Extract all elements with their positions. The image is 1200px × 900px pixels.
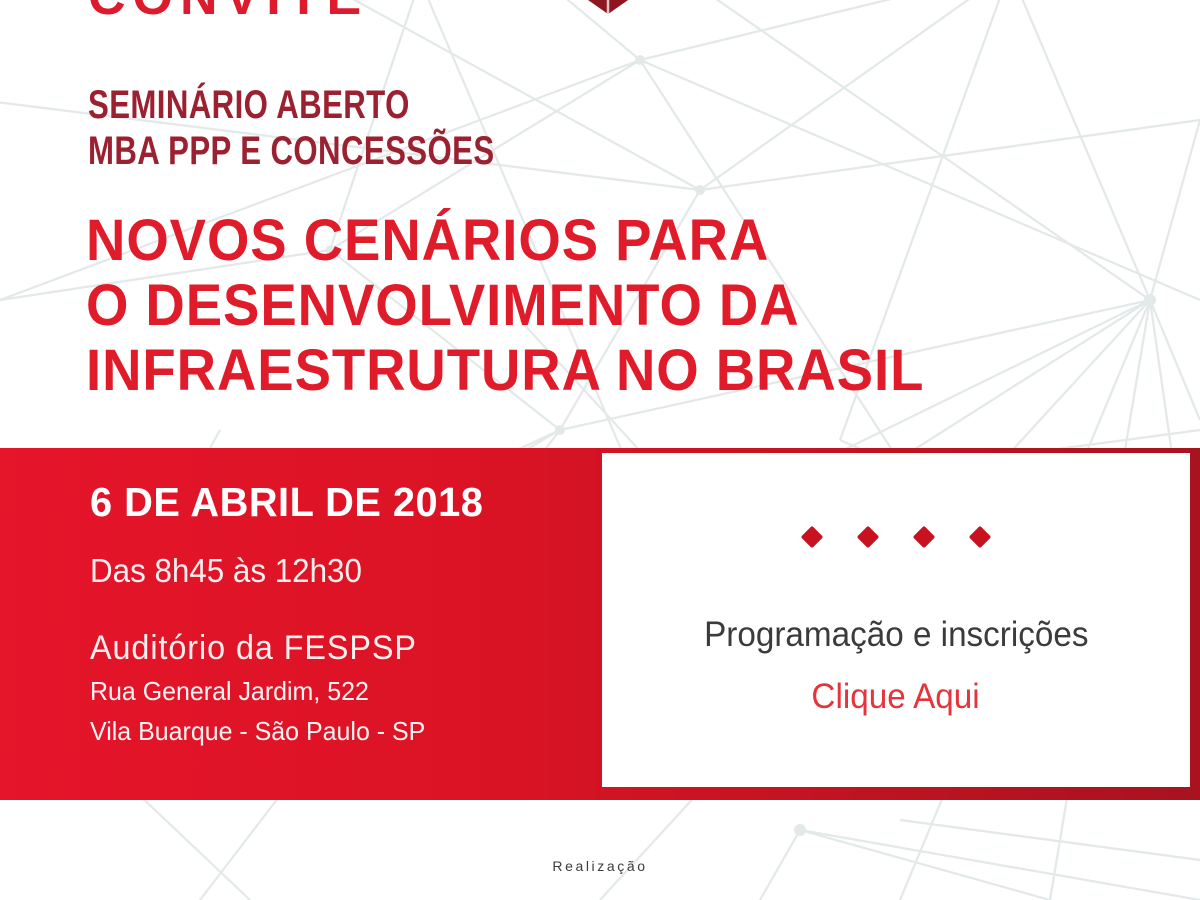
registration-card[interactable]: Programação e inscrições Clique Aqui — [604, 455, 1188, 785]
event-date: 6 DE ABRIL DE 2018 — [90, 478, 556, 526]
registration-link[interactable]: Clique Aqui — [812, 675, 980, 719]
page-title: NOVOS CENÁRIOS PARA O DESENVOLVIMENTO DA… — [86, 208, 1146, 403]
headline-line-3: INFRAESTRUTURA NO BRASIL — [86, 338, 1082, 403]
diamond-bullet-icon-1 — [801, 526, 824, 549]
poster-subtitle-line-1: SEMINÁRIO ABERTO — [88, 82, 634, 128]
poster-kicker-block: CONVITE — [88, 0, 1088, 28]
event-address-line-1: Rua General Jardim, 522 — [90, 674, 551, 708]
poster-subtitle-line-2: MBA PPP E CONCESSÕES — [88, 128, 634, 174]
diamond-bullet-row — [604, 529, 1188, 545]
headline-line-1: NOVOS CENÁRIOS PARA — [86, 208, 1082, 273]
poster-subtitle-block: SEMINÁRIO ABERTO MBA PPP E CONCESSÕES — [88, 82, 788, 174]
headline-line-2: O DESENVOLVIMENTO DA — [86, 273, 1082, 338]
registration-label: Programação e inscrições — [704, 613, 1088, 657]
event-time: Das 8h45 às 12h30 — [90, 552, 546, 590]
diamond-bullet-icon-2 — [857, 526, 880, 549]
diamond-bullet-icon-4 — [969, 526, 992, 549]
registration-card-text: Programação e inscrições Clique Aqui — [604, 613, 1188, 719]
event-info-block: 6 DE ABRIL DE 2018 Das 8h45 às 12h30 Aud… — [90, 478, 570, 748]
diamond-bullet-icon-3 — [913, 526, 936, 549]
event-address-line-2: Vila Buarque - São Paulo - SP — [90, 714, 551, 748]
footer-credit-label: Realização — [0, 858, 1200, 874]
event-venue: Auditório da FESPSP — [90, 628, 546, 668]
poster-kicker: CONVITE — [88, 0, 1088, 28]
poster-canvas: CONVITE SEMINÁRIO ABERTO MBA PPP E CONCE… — [0, 0, 1200, 900]
